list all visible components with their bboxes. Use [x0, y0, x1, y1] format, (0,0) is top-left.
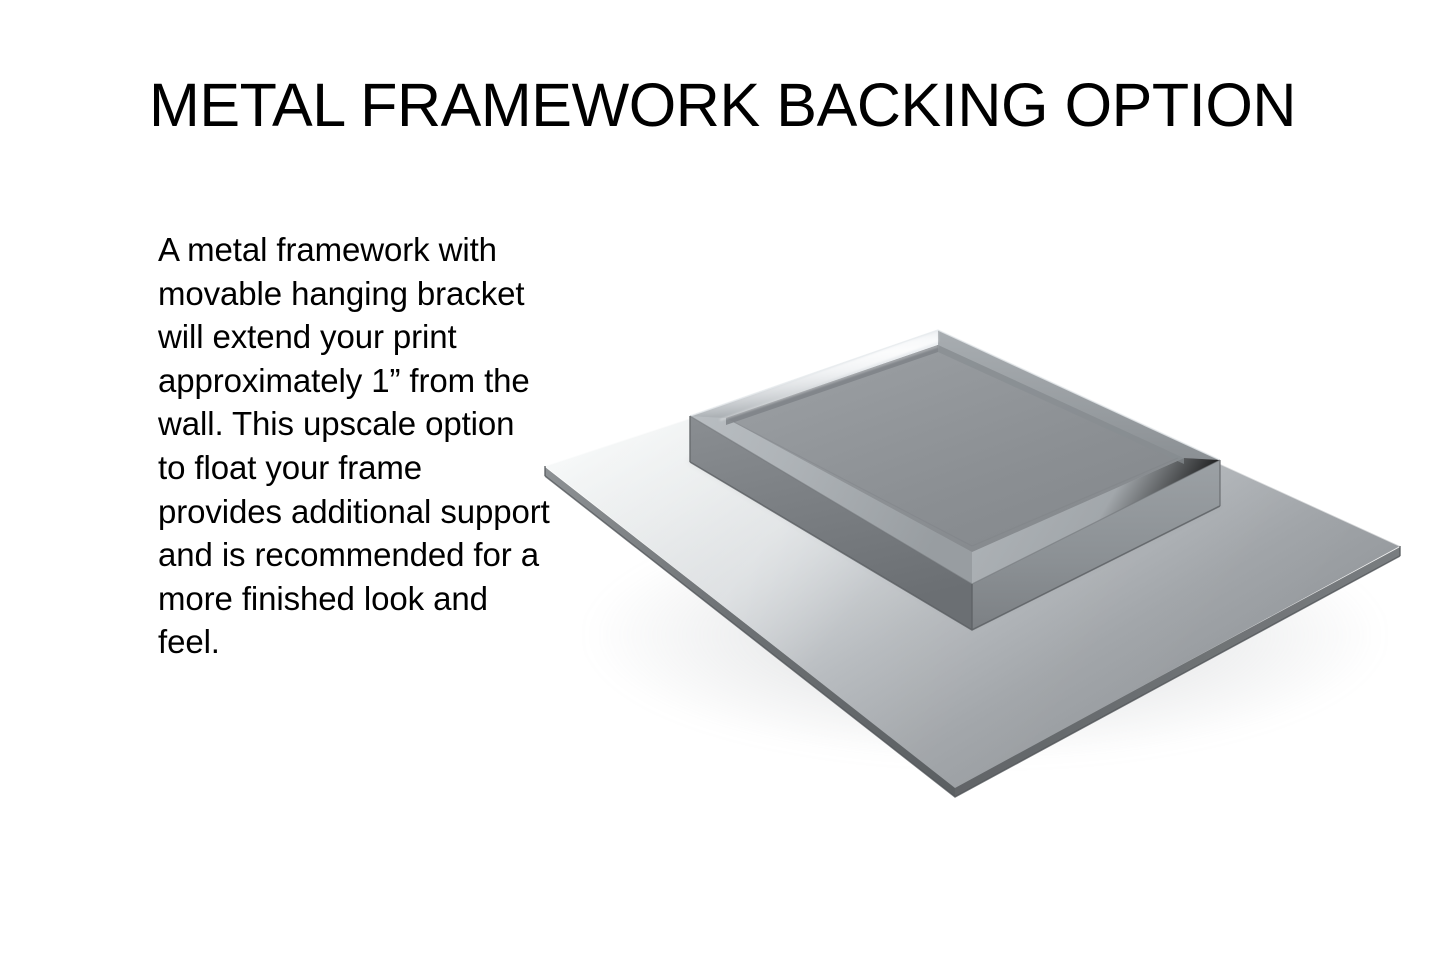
- page-title: METAL FRAMEWORK BACKING OPTION: [0, 74, 1445, 136]
- presentation-slide: METAL FRAMEWORK BACKING OPTION A metal f…: [0, 0, 1445, 963]
- body-paragraph: A metal framework with movable hanging b…: [158, 228, 550, 664]
- metal-framework-backing-photo: [520, 330, 1425, 830]
- product-illustration: [520, 330, 1425, 830]
